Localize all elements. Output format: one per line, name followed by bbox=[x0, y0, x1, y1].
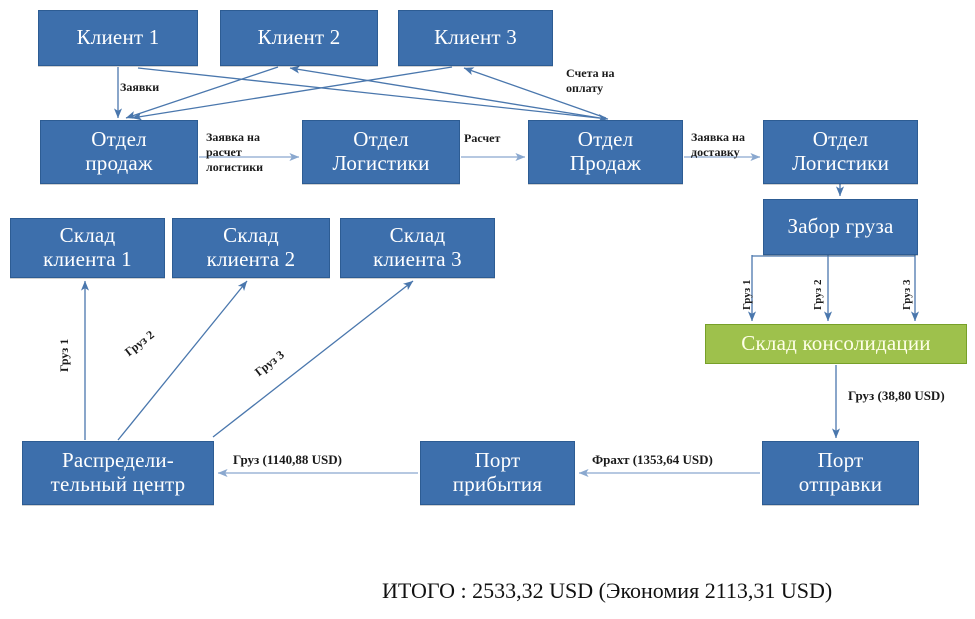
node-client-3[interactable]: Клиент 3 bbox=[398, 10, 553, 66]
node-label: Отдел Логистики bbox=[303, 128, 459, 175]
edge-client3-sales1 bbox=[132, 67, 452, 118]
edge-label-orders: Заявки bbox=[120, 80, 159, 95]
node-client-warehouse-1[interactable]: Склад клиента 1 bbox=[10, 218, 165, 278]
node-label: Отдел Продаж bbox=[529, 128, 682, 175]
node-distribution-center[interactable]: Распредели- тельный центр bbox=[22, 441, 214, 505]
node-consolidation-warehouse[interactable]: Склад консолидации bbox=[705, 324, 967, 364]
node-label: Склад клиента 3 bbox=[341, 224, 494, 271]
node-client-1[interactable]: Клиент 1 bbox=[38, 10, 198, 66]
edge-label-logistics-calc-request: Заявка на расчет логистики bbox=[206, 130, 263, 175]
node-label: Склад клиента 2 bbox=[173, 224, 329, 271]
edge-dc-wh2 bbox=[118, 281, 247, 440]
edge-label-cargo-consolidation-cost: Груз (38,80 USD) bbox=[848, 388, 945, 404]
node-client-2[interactable]: Клиент 2 bbox=[220, 10, 378, 66]
node-label: Склад консолидации bbox=[706, 332, 966, 356]
edge-label-freight-cost: Фрахт (1353,64 USD) bbox=[592, 452, 713, 468]
node-label: Клиент 2 bbox=[221, 26, 377, 50]
total-summary: ИТОГО : 2533,32 USD (Экономия 2113,31 US… bbox=[382, 578, 832, 604]
edge-label-cargo-2-left: Груз 2 bbox=[122, 328, 157, 360]
node-label: Порт отправки bbox=[763, 449, 918, 496]
node-cargo-pickup[interactable]: Забор груза bbox=[763, 199, 918, 255]
node-logistics-department-1[interactable]: Отдел Логистики bbox=[302, 120, 460, 184]
node-label: Клиент 3 bbox=[399, 26, 552, 50]
edge-dc-wh3 bbox=[213, 281, 413, 437]
node-label: Порт прибытия bbox=[421, 449, 574, 496]
edge-label-cargo-3-right: Груз 3 bbox=[901, 280, 915, 310]
node-client-warehouse-3[interactable]: Склад клиента 3 bbox=[340, 218, 495, 278]
node-sales-department-1[interactable]: Отдел продаж bbox=[40, 120, 198, 184]
node-label: Отдел продаж bbox=[41, 128, 197, 175]
edge-label-payment-invoices: Счета на оплату bbox=[566, 66, 615, 96]
edge-label-cargo-3-left: Груз 3 bbox=[252, 348, 287, 380]
node-logistics-department-2[interactable]: Отдел Логистики bbox=[763, 120, 918, 184]
edge-label-cargo-dc-cost: Груз (1140,88 USD) bbox=[233, 452, 342, 468]
edge-label-cargo-1-left: Груз 1 bbox=[57, 339, 72, 372]
node-label: Клиент 1 bbox=[39, 26, 197, 50]
node-label: Распредели- тельный центр bbox=[23, 449, 213, 496]
node-label: Забор груза bbox=[764, 215, 917, 239]
node-client-warehouse-2[interactable]: Склад клиента 2 bbox=[172, 218, 330, 278]
edge-sales2-client2 bbox=[290, 68, 600, 118]
diagram-canvas: Клиент 1 Клиент 2 Клиент 3 Отдел продаж … bbox=[0, 0, 975, 619]
node-port-of-departure[interactable]: Порт отправки bbox=[762, 441, 919, 505]
node-label: Отдел Логистики bbox=[764, 128, 917, 175]
node-sales-department-2[interactable]: Отдел Продаж bbox=[528, 120, 683, 184]
node-port-of-arrival[interactable]: Порт прибытия bbox=[420, 441, 575, 505]
edge-label-calculation: Расчет bbox=[464, 131, 500, 146]
edge-label-delivery-request: Заявка на доставку bbox=[691, 130, 745, 160]
node-label: Склад клиента 1 bbox=[11, 224, 164, 271]
edge-client1-sales2 bbox=[138, 68, 608, 119]
edge-label-cargo-1-right: Груз 1 bbox=[741, 280, 755, 310]
edge-label-cargo-2-right: Груз 2 bbox=[812, 280, 826, 310]
